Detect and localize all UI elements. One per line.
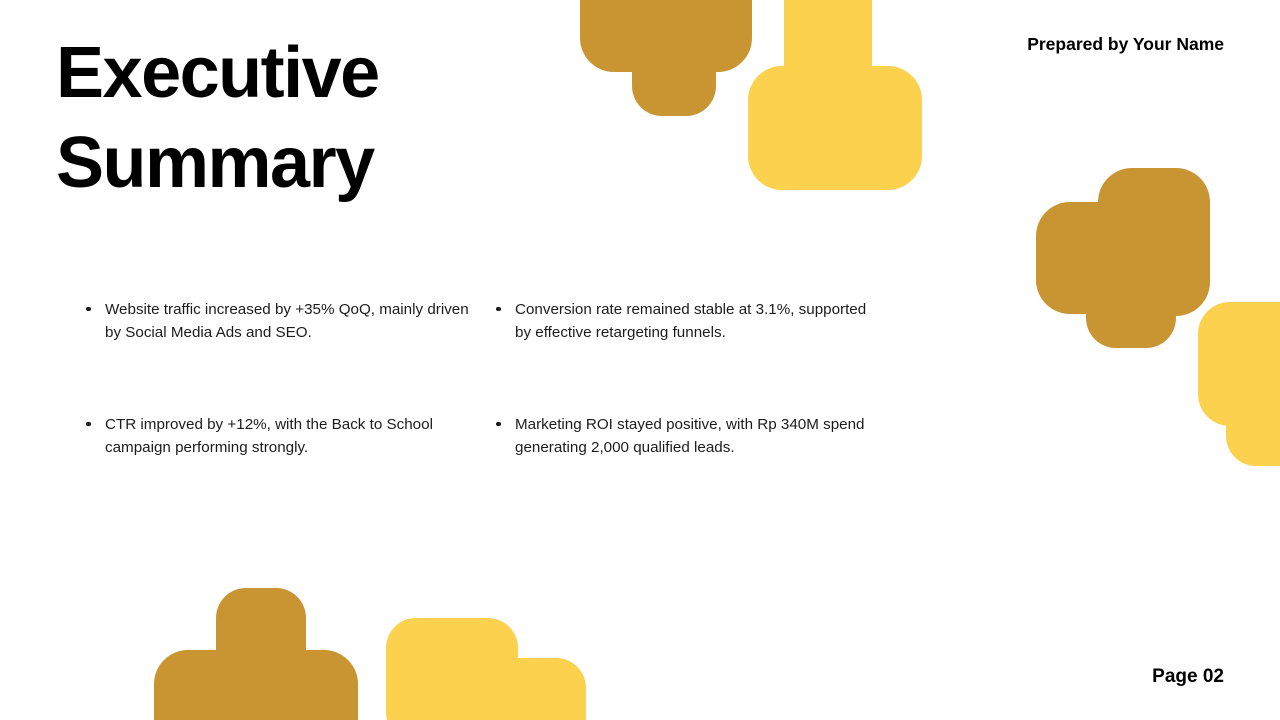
bullet-dot-icon — [86, 422, 91, 427]
prepared-by-label: Prepared by Your Name — [1027, 34, 1224, 55]
blob-top-brown-icon — [580, 0, 752, 116]
blob-top-yellow-icon — [748, 0, 922, 190]
page-title: Executive Summary — [56, 28, 576, 208]
bullet-item-roi: Marketing ROI stayed positive, with Rp 3… — [494, 413, 884, 459]
blob-bottom-yellow-icon — [386, 618, 586, 720]
bullet-item-conversion: Conversion rate remained stable at 3.1%,… — [494, 298, 884, 413]
blob-bottom-brown-icon — [154, 588, 358, 720]
blob-right-yellow-icon — [1198, 302, 1280, 466]
bullet-text-conversion: Conversion rate remained stable at 3.1%,… — [515, 298, 870, 344]
page-number-label: Page 02 — [1152, 666, 1224, 688]
bullet-dot-icon — [496, 422, 501, 427]
bullets-grid: Website traffic increased by +35% QoQ, m… — [84, 298, 884, 459]
bullet-text-traffic: Website traffic increased by +35% QoQ, m… — [105, 298, 480, 344]
bullet-dot-icon — [86, 307, 91, 312]
bullet-dot-icon — [496, 307, 501, 312]
slide-canvas: Prepared by Your Name Executive Summary … — [0, 0, 1280, 720]
bullet-item-ctr: CTR improved by +12%, with the Back to S… — [84, 413, 494, 459]
bullet-text-ctr: CTR improved by +12%, with the Back to S… — [105, 413, 480, 459]
blob-right-brown-icon — [1036, 168, 1210, 348]
bullet-text-roi: Marketing ROI stayed positive, with Rp 3… — [515, 413, 870, 459]
bullet-item-traffic: Website traffic increased by +35% QoQ, m… — [84, 298, 494, 413]
title-block: Executive Summary — [56, 28, 576, 208]
